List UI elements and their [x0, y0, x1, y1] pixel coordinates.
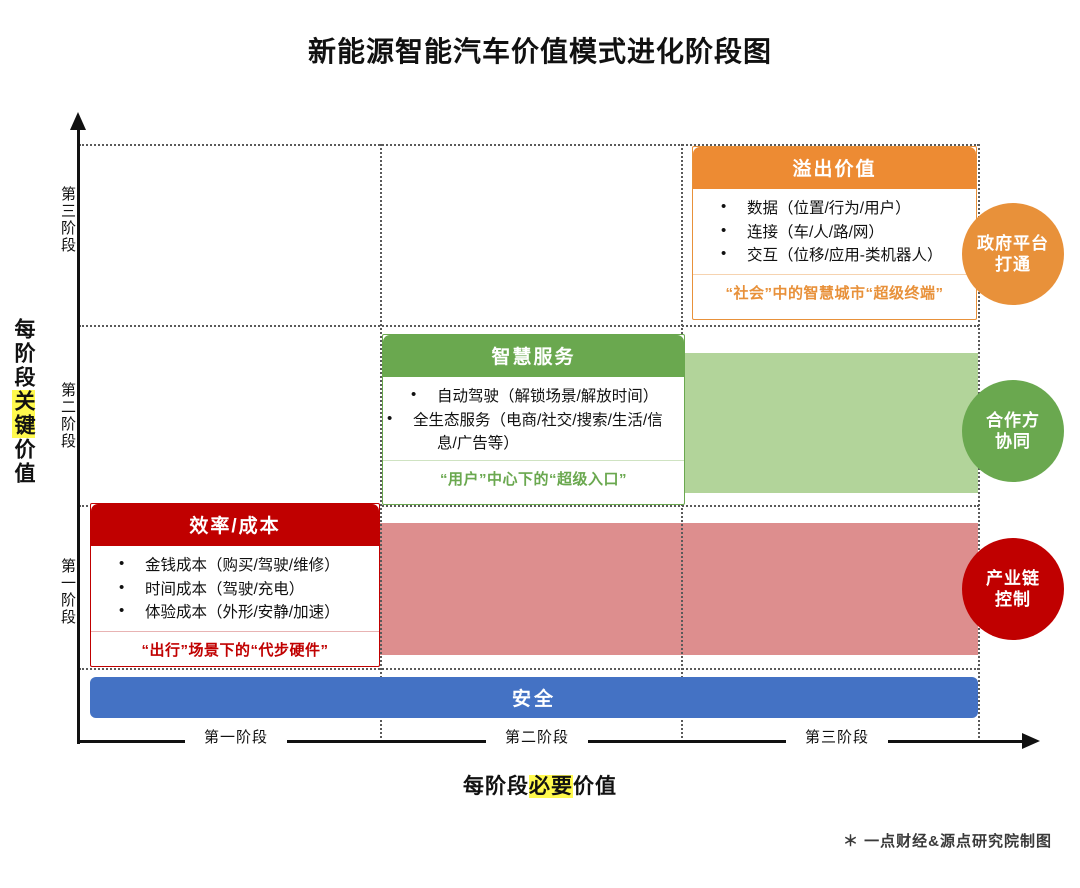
card-header-smart-service: 智慧服务 [383, 335, 684, 377]
enabler-circle-partner-collaboration[interactable]: 合作方 协同 [962, 380, 1064, 482]
card-list-smart-service: 自动驾驶（解锁场景/解放时间） 全生态服务（电商/社交/搜索/生活/信息/广告等… [397, 385, 674, 456]
diagram-canvas: 新能源智能汽车价值模式进化阶段图 第三阶段 第二阶段 第一阶段 每阶段关键价值 … [0, 0, 1080, 888]
baseline-bar-safety[interactable]: 安全 [90, 677, 978, 718]
x-tick-stage-2: 第二阶段 [486, 726, 588, 747]
card-header-efficiency-cost: 效率/成本 [91, 504, 379, 546]
y-axis-line [77, 128, 80, 744]
x-axis-title-highlight: 必要 [529, 775, 573, 798]
band-red [380, 523, 978, 655]
list-item: 交互（位移/应用-类机器人） [707, 244, 966, 268]
page-title: 新能源智能汽车价值模式进化阶段图 [0, 30, 1080, 70]
list-item: 金钱成本（购买/驾驶/维修） [105, 554, 369, 578]
y-axis-title-highlight: 关键 [12, 390, 35, 438]
card-header-overflow: 溢出价值 [693, 147, 976, 189]
value-card-efficiency-cost[interactable]: 效率/成本 金钱成本（购买/驾驶/维修） 时间成本（驾驶/充电） 体验成本（外形… [90, 503, 380, 667]
y-axis-title-post: 价值 [12, 438, 35, 486]
card-body-smart-service: 自动驾驶（解锁场景/解放时间） 全生态服务（电商/社交/搜索/生活/信息/广告等… [383, 377, 684, 460]
enabler-circle-label-wrap: 产业链 控制 [986, 568, 1040, 611]
y-axis-arrow-icon [70, 112, 86, 130]
enabler-circle-line2: 控制 [986, 589, 1040, 610]
list-item: 时间成本（驾驶/充电） [105, 578, 369, 602]
x-axis-arrow-icon [1022, 733, 1040, 749]
gridline-h-mid-upper [79, 325, 979, 327]
enabler-circle-line2: 协同 [986, 431, 1040, 452]
y-tick-stage-3: 第三阶段 [60, 182, 75, 276]
enabler-circle-line2: 打通 [977, 254, 1049, 275]
card-footer-smart-service: “用户”中心下的“超级入口” [383, 460, 684, 497]
y-tick-stage-1: 第一阶段 [60, 554, 75, 648]
card-footer-overflow: “社会”中的智慧城市“超级终端” [693, 274, 976, 311]
value-card-overflow[interactable]: 溢出价值 数据（位置/行为/用户） 连接（车/人/路/网） 交互（位移/应用-类… [692, 146, 977, 320]
band-green [685, 353, 978, 493]
enabler-circle-label-wrap: 政府平台 打通 [977, 233, 1049, 276]
x-axis-title: 每阶段必要价值 [0, 770, 1080, 800]
card-list-efficiency-cost: 金钱成本（购买/驾驶/维修） 时间成本（驾驶/充电） 体验成本（外形/安静/加速… [105, 554, 369, 625]
list-item: 数据（位置/行为/用户） [707, 197, 966, 221]
card-body-overflow: 数据（位置/行为/用户） 连接（车/人/路/网） 交互（位移/应用-类机器人） [693, 189, 976, 274]
list-item: 连接（车/人/路/网） [707, 221, 966, 245]
x-tick-stage-3: 第三阶段 [786, 726, 888, 747]
enabler-circle-supply-chain-control[interactable]: 产业链 控制 [962, 538, 1064, 640]
y-tick-stage-2: 第二阶段 [60, 378, 75, 472]
list-item: 全生态服务（电商/社交/搜索/生活/信息/广告等） [397, 409, 674, 456]
y-axis-title: 每阶段关键价值 [12, 318, 34, 486]
enabler-circle-label-wrap: 合作方 协同 [986, 410, 1040, 453]
x-axis-title-post: 价值 [573, 775, 617, 798]
enabler-circle-line1: 政府平台 [977, 233, 1049, 254]
enabler-circle-government-platform[interactable]: 政府平台 打通 [962, 203, 1064, 305]
value-card-smart-service[interactable]: 智慧服务 自动驾驶（解锁场景/解放时间） 全生态服务（电商/社交/搜索/生活/信… [382, 334, 685, 505]
list-item: 体验成本（外形/安静/加速） [105, 601, 369, 625]
card-footer-efficiency-cost: “出行”场景下的“代步硬件” [91, 631, 379, 668]
x-tick-stage-1: 第一阶段 [185, 726, 287, 747]
list-item: 自动驾驶（解锁场景/解放时间） [397, 385, 674, 409]
y-axis-title-pre: 每阶段 [12, 318, 35, 390]
enabler-circle-line1: 产业链 [986, 568, 1040, 589]
enabler-circle-line1: 合作方 [986, 410, 1040, 431]
x-axis-title-pre: 每阶段 [463, 775, 529, 798]
credit-note: ＊ 一点财经&源点研究院制图 [843, 830, 1052, 851]
card-body-efficiency-cost: 金钱成本（购买/驾驶/维修） 时间成本（驾驶/充电） 体验成本（外形/安静/加速… [91, 546, 379, 631]
baseline-bar-label: 安全 [512, 684, 556, 711]
card-list-overflow: 数据（位置/行为/用户） 连接（车/人/路/网） 交互（位移/应用-类机器人） [707, 197, 966, 268]
gridline-h-bottom [79, 668, 979, 670]
